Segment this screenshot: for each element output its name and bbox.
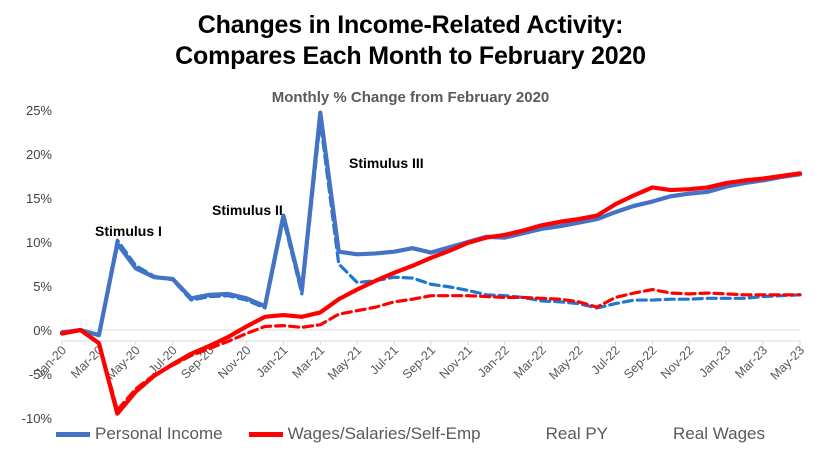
- legend-label: Wages/Salaries/Self-Emp: [288, 424, 481, 444]
- chart-annotation: Stimulus II: [212, 202, 283, 218]
- x-axis-tick-label: Nov-20: [215, 343, 253, 381]
- legend-item[interactable]: Real PY: [507, 424, 608, 444]
- x-axis-tick-label: Jan-22: [475, 343, 512, 380]
- x-axis-tick-label: Jul-21: [367, 343, 401, 377]
- x-axis-tick-label: Mar-22: [511, 343, 549, 381]
- legend-swatch-icon: [249, 432, 283, 437]
- legend-swatch-icon: [634, 432, 668, 437]
- x-axis-tick-label: Mar-23: [732, 343, 770, 381]
- x-axis-tick-label: May-21: [325, 343, 364, 382]
- legend-item[interactable]: Personal Income: [56, 424, 223, 444]
- x-axis-tick-label: Nov-21: [437, 343, 475, 381]
- x-axis-tick-label: Jul-22: [589, 343, 623, 377]
- y-axis-tick-label: 10%: [26, 235, 52, 250]
- x-axis-tick-label: May-22: [546, 343, 585, 382]
- legend-item[interactable]: Wages/Salaries/Self-Emp: [249, 424, 481, 444]
- x-axis-tick-label: Jan-21: [254, 343, 291, 380]
- plot-area: -10%-5%0%5%10%15%20%25%Jan-20Mar-20May-2…: [0, 0, 821, 476]
- x-axis-tick-label: Sep-21: [400, 343, 438, 381]
- chart-annotation: Stimulus I: [95, 223, 162, 239]
- legend-label: Real Wages: [673, 424, 765, 444]
- x-axis-tick-label: Jan-23: [696, 343, 733, 380]
- chart-legend: Personal IncomeWages/Salaries/Self-EmpRe…: [0, 424, 821, 444]
- chart-container: Changes in Income-Related Activity: Comp…: [0, 0, 821, 476]
- y-axis-tick-label: 15%: [26, 191, 52, 206]
- x-axis-tick-label: May-23: [768, 343, 807, 382]
- series-line: [62, 121, 800, 335]
- chart-annotation: Stimulus III: [349, 155, 424, 171]
- y-axis-tick-label: 25%: [26, 103, 52, 118]
- y-axis-tick-label: 5%: [33, 279, 52, 294]
- y-axis-tick-label: 20%: [26, 147, 52, 162]
- series-line: [62, 113, 800, 336]
- x-axis-tick-label: Sep-22: [621, 343, 659, 381]
- legend-item[interactable]: Real Wages: [634, 424, 765, 444]
- legend-label: Personal Income: [95, 424, 223, 444]
- x-axis-tick-label: Nov-22: [658, 343, 696, 381]
- legend-label: Real PY: [546, 424, 608, 444]
- x-axis-tick-label: Mar-21: [290, 343, 328, 381]
- legend-swatch-icon: [507, 432, 541, 437]
- legend-swatch-icon: [56, 432, 90, 437]
- y-axis-tick-label: 0%: [33, 323, 52, 338]
